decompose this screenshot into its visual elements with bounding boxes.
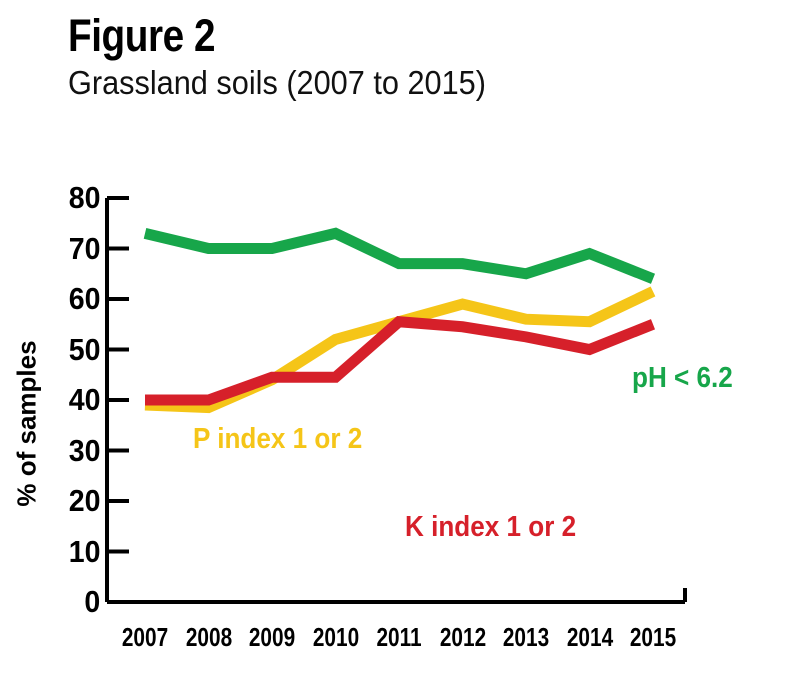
series-line-k-index-1-or-2 xyxy=(145,322,653,400)
chart-container: % of samples 01020304050607080 200720082… xyxy=(0,150,790,686)
figure-title: Figure 2 xyxy=(68,12,670,60)
plot-svg xyxy=(0,150,790,686)
figure-header: Figure 2 Grassland soils (2007 to 2015) xyxy=(68,12,768,102)
figure-subtitle: Grassland soils (2007 to 2015) xyxy=(68,64,719,102)
data-lines xyxy=(145,233,653,407)
series-line-ph-6-2 xyxy=(145,233,653,278)
